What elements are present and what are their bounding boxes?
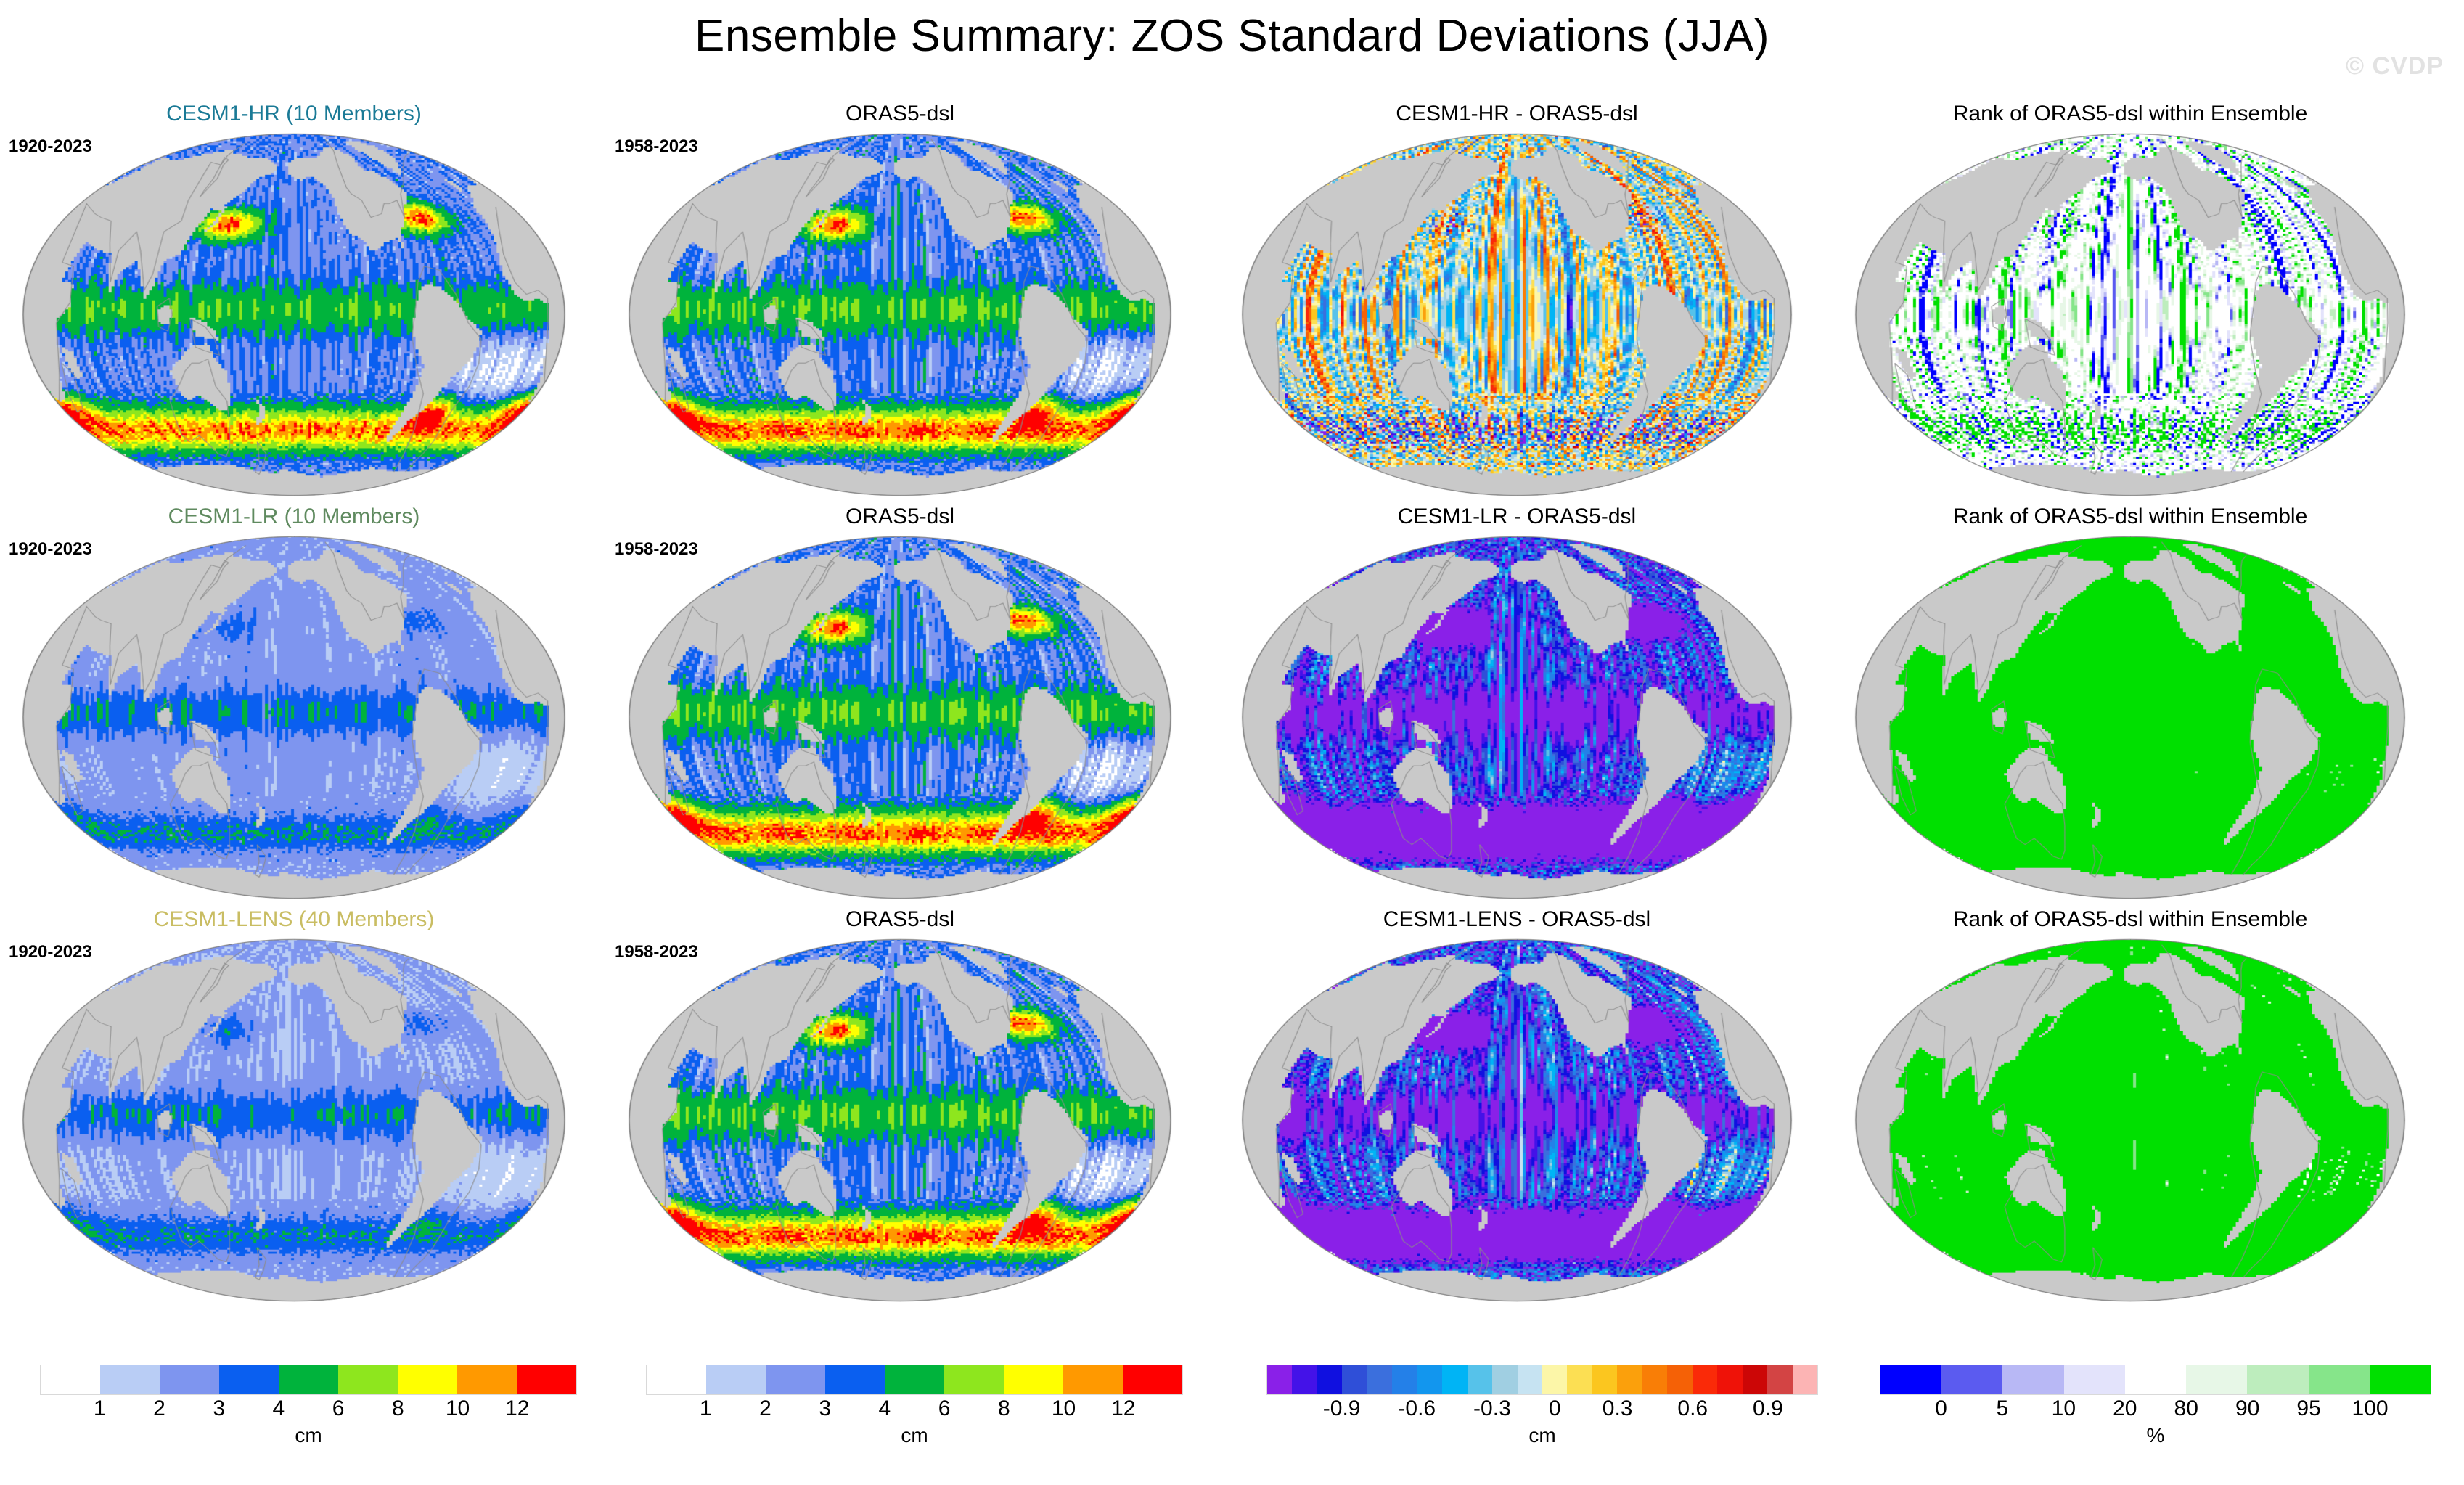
colorbar-tick-label: 3 <box>819 1396 831 1421</box>
colorbar-sd-left: 1234681012cm <box>40 1365 577 1447</box>
colorbar-tick-label: 1 <box>94 1396 106 1421</box>
colorbar-swatch <box>1267 1365 1292 1394</box>
colorbar-ticks: 1234681012 <box>40 1395 577 1427</box>
colorbar-swatch <box>1518 1365 1542 1394</box>
panel-hr-rank: Rank of ORAS5-dsl within Ensemble <box>1840 102 2420 504</box>
colorbar-swatch <box>944 1365 1004 1394</box>
colorbar-swatch <box>1592 1365 1617 1394</box>
panel-lr-model: CESM1-LR (10 Members)1920-2023 <box>7 504 581 907</box>
map-lens-obs <box>613 936 1187 1310</box>
colorbar-swatch <box>766 1365 825 1394</box>
map-lens-model <box>7 936 581 1310</box>
panel-grid: CESM1-HR (10 Members)1920-2023ORAS5-dsl1… <box>0 102 2464 1350</box>
colorbar-tick-label: 12 <box>505 1396 529 1421</box>
colorbar-tick-label: 95 <box>2296 1396 2320 1421</box>
colorbar-swatch <box>219 1365 279 1394</box>
colorbar-swatch <box>1743 1365 1767 1394</box>
map-hr-obs <box>613 131 1187 504</box>
map-hr-rank <box>1840 131 2420 504</box>
colorbar-tick-label: 10 <box>1052 1396 1076 1421</box>
colorbar-tick-label: 12 <box>1111 1396 1135 1421</box>
map-lr-diff <box>1227 533 1807 907</box>
colorbar-swatch <box>279 1365 338 1394</box>
colorbar-swatch <box>1542 1365 1567 1394</box>
colorbar-swatch <box>1941 1365 2002 1394</box>
colorbar-swatches <box>40 1365 577 1395</box>
colorbar-tick-label: -0.6 <box>1398 1396 1436 1421</box>
map-lr-model <box>7 533 581 907</box>
colorbar-swatches <box>1266 1365 1818 1395</box>
colorbar-swatch <box>1392 1365 1417 1394</box>
colorbar-swatch <box>398 1365 457 1394</box>
colorbar-tick-label: 3 <box>213 1396 225 1421</box>
colorbar-swatch <box>1880 1365 1941 1394</box>
map-lens-diff <box>1227 936 1807 1310</box>
colorbar-tick-label: 5 <box>1997 1396 2009 1421</box>
colorbar-rank: 051020809095100% <box>1880 1365 2431 1447</box>
colorbar-diff: -0.9-0.6-0.300.30.60.9cm <box>1266 1365 1818 1447</box>
colorbar-tick-label: 0.6 <box>1677 1396 1708 1421</box>
colorbar-swatches <box>646 1365 1183 1395</box>
colorbar-swatch <box>2247 1365 2308 1394</box>
panel-lens-obs: ORAS5-dsl1958-2023 <box>613 907 1187 1310</box>
colorbar-unit: cm <box>40 1424 577 1447</box>
panel-lens-rank: Rank of ORAS5-dsl within Ensemble <box>1840 907 2420 1310</box>
colorbar-swatch <box>2002 1365 2063 1394</box>
colorbar-swatch <box>1063 1365 1123 1394</box>
colorbar-tick-label: 4 <box>879 1396 891 1421</box>
colorbar-swatch <box>1123 1365 1182 1394</box>
panel-title-lr-obs: ORAS5-dsl <box>613 504 1187 529</box>
colorbar-tick-label: 0 <box>1935 1396 1947 1421</box>
colorbar-swatch <box>647 1365 706 1394</box>
map-image <box>625 936 1175 1304</box>
panel-lens-model: CESM1-LENS (40 Members)1920-2023 <box>7 907 581 1310</box>
colorbar-swatch <box>706 1365 766 1394</box>
colorbar-swatch <box>457 1365 517 1394</box>
colorbar-swatch <box>2186 1365 2247 1394</box>
colorbar-tick-label: 2 <box>759 1396 771 1421</box>
colorbar-unit: cm <box>1266 1424 1818 1447</box>
map-image <box>1851 533 2409 901</box>
map-hr-model <box>7 131 581 504</box>
colorbar-sd-mid: 1234681012cm <box>646 1365 1183 1447</box>
map-image <box>19 131 569 499</box>
colorbar-tick-label: 0.3 <box>1603 1396 1633 1421</box>
colorbar-unit: % <box>1880 1424 2431 1447</box>
map-lens-rank <box>1840 936 2420 1310</box>
map-lr-rank <box>1840 533 2420 907</box>
panel-lens-diff: CESM1-LENS - ORAS5-dsl <box>1227 907 1807 1310</box>
cvdp-watermark: © CVDP <box>2346 52 2444 81</box>
panel-title-hr-model: CESM1-HR (10 Members) <box>7 102 581 126</box>
colorbar-swatch <box>41 1365 100 1394</box>
colorbar-swatch <box>1004 1365 1063 1394</box>
colorbar-tick-label: 6 <box>332 1396 345 1421</box>
map-image <box>1238 131 1796 499</box>
colorbar-swatch <box>1617 1365 1642 1394</box>
colorbar-swatch <box>885 1365 944 1394</box>
panel-title-lens-obs: ORAS5-dsl <box>613 907 1187 932</box>
colorbar-swatch <box>2064 1365 2125 1394</box>
map-image <box>19 936 569 1304</box>
colorbar-swatch <box>2309 1365 2370 1394</box>
colorbar-swatch <box>1367 1365 1392 1394</box>
colorbar-swatch <box>1667 1365 1692 1394</box>
panel-title-hr-rank: Rank of ORAS5-dsl within Ensemble <box>1840 102 2420 126</box>
colorbar-ticks: -0.9-0.6-0.300.30.60.9 <box>1266 1395 1818 1427</box>
map-image <box>625 533 1175 901</box>
map-hr-diff <box>1227 131 1807 504</box>
colorbar-tick-label: 100 <box>2352 1396 2389 1421</box>
colorbar-swatch <box>1642 1365 1667 1394</box>
page-title: Ensemble Summary: ZOS Standard Deviation… <box>0 10 2464 62</box>
panel-title-lr-rank: Rank of ORAS5-dsl within Ensemble <box>1840 504 2420 529</box>
colorbar-tick-label: 8 <box>998 1396 1010 1421</box>
map-image <box>1238 533 1796 901</box>
map-image <box>19 533 569 901</box>
panel-lr-obs: ORAS5-dsl1958-2023 <box>613 504 1187 907</box>
map-image <box>1238 936 1796 1304</box>
colorbar-unit: cm <box>646 1424 1183 1447</box>
colorbar-tick-label: 20 <box>2113 1396 2137 1421</box>
colorbar-swatch <box>1292 1365 1317 1394</box>
colorbar-swatch <box>1767 1365 1792 1394</box>
colorbar-tick-label: 80 <box>2174 1396 2198 1421</box>
colorbar-swatch <box>1442 1365 1467 1394</box>
colorbar-swatch <box>338 1365 398 1394</box>
map-image <box>625 131 1175 499</box>
panel-lr-diff: CESM1-LR - ORAS5-dsl <box>1227 504 1807 907</box>
panel-title-lens-diff: CESM1-LENS - ORAS5-dsl <box>1227 907 1807 932</box>
colorbar-swatches <box>1880 1365 2431 1395</box>
colorbar-swatch <box>1567 1365 1592 1394</box>
map-lr-obs <box>613 533 1187 907</box>
panel-lr-rank: Rank of ORAS5-dsl within Ensemble <box>1840 504 2420 907</box>
colorbar-tick-label: 2 <box>153 1396 165 1421</box>
colorbar-swatch <box>1693 1365 1717 1394</box>
colorbar-tick-label: 1 <box>700 1396 712 1421</box>
colorbar-tick-label: 8 <box>392 1396 404 1421</box>
colorbar-tick-label: -0.9 <box>1323 1396 1361 1421</box>
colorbar-swatch <box>160 1365 219 1394</box>
colorbar-tick-label: 4 <box>273 1396 285 1421</box>
colorbar-tick-label: 6 <box>938 1396 951 1421</box>
colorbar-swatch <box>1317 1365 1342 1394</box>
colorbar-ticks: 051020809095100 <box>1880 1395 2431 1427</box>
colorbar-swatch <box>1717 1365 1742 1394</box>
colorbar-swatch <box>517 1365 576 1394</box>
map-image <box>1851 131 2409 499</box>
panel-title-lens-rank: Rank of ORAS5-dsl within Ensemble <box>1840 907 2420 932</box>
colorbar-tick-label: 10 <box>2052 1396 2076 1421</box>
panel-title-hr-obs: ORAS5-dsl <box>613 102 1187 126</box>
panel-title-lr-model: CESM1-LR (10 Members) <box>7 504 581 529</box>
panel-hr-diff: CESM1-HR - ORAS5-dsl <box>1227 102 1807 504</box>
colorbar-ticks: 1234681012 <box>646 1395 1183 1427</box>
colorbar-tick-label: 0 <box>1549 1396 1561 1421</box>
colorbar-swatch <box>825 1365 885 1394</box>
colorbar-swatch <box>1342 1365 1367 1394</box>
panel-title-hr-diff: CESM1-HR - ORAS5-dsl <box>1227 102 1807 126</box>
colorbar-swatch <box>2125 1365 2186 1394</box>
panel-hr-model: CESM1-HR (10 Members)1920-2023 <box>7 102 581 504</box>
panel-hr-obs: ORAS5-dsl1958-2023 <box>613 102 1187 504</box>
colorbar-swatch <box>1468 1365 1492 1394</box>
colorbar-tick-label: 90 <box>2235 1396 2259 1421</box>
colorbar-tick-label: 10 <box>446 1396 470 1421</box>
colorbar-swatch <box>1492 1365 1517 1394</box>
colorbar-swatch <box>100 1365 160 1394</box>
colorbar-swatch <box>1417 1365 1442 1394</box>
map-image <box>1851 936 2409 1304</box>
colorbar-tick-label: -0.3 <box>1473 1396 1511 1421</box>
panel-title-lens-model: CESM1-LENS (40 Members) <box>7 907 581 932</box>
panel-title-lr-diff: CESM1-LR - ORAS5-dsl <box>1227 504 1807 529</box>
colorbar-swatch <box>1793 1365 1817 1394</box>
colorbar-swatch <box>2370 1365 2431 1394</box>
colorbar-tick-label: 0.9 <box>1753 1396 1783 1421</box>
